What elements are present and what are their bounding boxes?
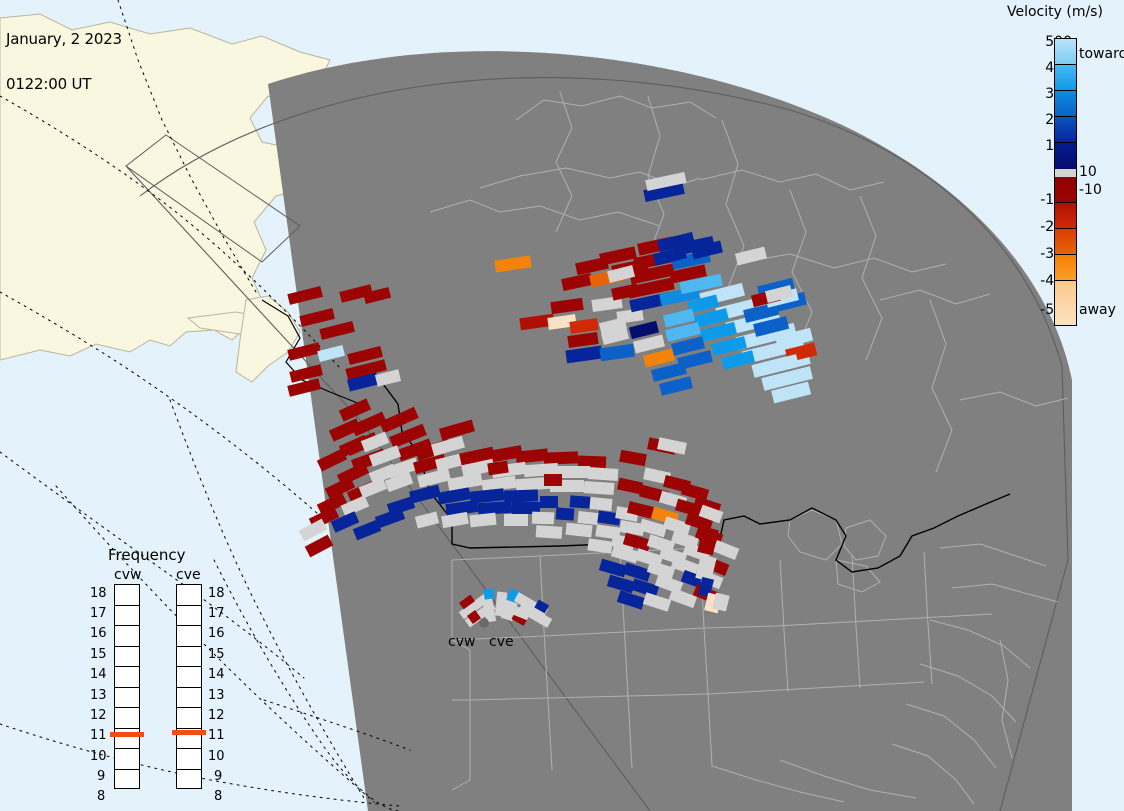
- timestamp-date: January, 2 2023: [6, 32, 122, 47]
- frequency-legend: Frequency cvw 18 17 16 15 14 13 12 11 10…: [92, 546, 242, 791]
- freq-cell: [115, 626, 139, 647]
- freq-cell: [115, 647, 139, 668]
- freq-tick: 18: [208, 586, 225, 601]
- site-label-cvw: cvw: [448, 634, 475, 650]
- freq-cell: [177, 770, 201, 791]
- freq-cell: [115, 667, 139, 688]
- freq-tick: 13: [90, 688, 107, 703]
- freq-cell: [177, 606, 201, 627]
- freq-cell: [115, 585, 139, 606]
- colorbar-segment-n400-n500: [1055, 281, 1076, 325]
- freq-cell: [115, 749, 139, 770]
- freq-cell: [115, 688, 139, 709]
- radar-plot-canvas: cvw cve January, 2 2023 0122:00 UT Veloc…: [0, 0, 1124, 811]
- frequency-marker-cve: [172, 730, 206, 735]
- freq-cell: [177, 585, 201, 606]
- freq-tick: 18: [90, 586, 107, 601]
- freq-tick: 12: [208, 708, 225, 723]
- freq-tick: 8: [97, 789, 105, 804]
- radar-site-marker: [479, 618, 489, 628]
- colorbar-segment-200-100: [1055, 117, 1076, 143]
- timestamp: January, 2 2023 0122:00 UT: [6, 2, 122, 122]
- colorbar-title: Velocity (m/s): [1007, 4, 1103, 20]
- timestamp-time: 0122:00 UT: [6, 77, 122, 92]
- colorbar-segment-100-10: [1055, 143, 1076, 169]
- freq-tick: 8: [214, 789, 222, 804]
- freq-tick: 11: [208, 728, 225, 743]
- freq-tick: 14: [208, 667, 225, 682]
- colorbar-segment-n10-n100: [1055, 177, 1076, 203]
- freq-tick: 10: [208, 749, 225, 764]
- freq-cell: [115, 770, 139, 791]
- freq-cell: [177, 749, 201, 770]
- frequency-marker-cvw: [110, 732, 144, 737]
- freq-cell: [115, 708, 139, 729]
- freq-cell: [115, 606, 139, 627]
- freq-tick: 16: [208, 626, 225, 641]
- velocity-colorbar: Velocity (m/s) 500 400 300 200 100 0 -10…: [1005, 2, 1124, 332]
- colorbar-segment-400-300: [1055, 65, 1076, 91]
- freq-cell: [177, 708, 201, 729]
- freq-tick: 15: [90, 647, 107, 662]
- freq-tick: 17: [90, 606, 107, 621]
- freq-tick: 14: [90, 667, 107, 682]
- freq-cell: [177, 647, 201, 668]
- freq-tick: 11: [90, 728, 107, 743]
- colorbar-null-band: [1055, 169, 1076, 177]
- frequency-title: Frequency: [108, 546, 186, 564]
- colorbar-segment-300-200: [1055, 91, 1076, 117]
- freq-tick: 9: [214, 769, 222, 784]
- freq-cell: [177, 626, 201, 647]
- freq-tick: 10: [90, 749, 107, 764]
- frequency-bar-cvw: [114, 584, 140, 789]
- colorbar-inner-low-label: -10: [1079, 182, 1102, 198]
- freq-tick: 17: [208, 606, 225, 621]
- frequency-header-cvw: cvw: [114, 567, 141, 583]
- freq-tick: 16: [90, 626, 107, 641]
- freq-tick: 15: [208, 647, 225, 662]
- frequency-header-cve: cve: [176, 567, 201, 583]
- colorbar-segment-500-400: [1055, 39, 1076, 65]
- colorbar-toward-label: toward: [1079, 46, 1124, 62]
- freq-tick: 12: [90, 708, 107, 723]
- colorbar-segment-n100-n200: [1055, 203, 1076, 229]
- freq-tick: 9: [97, 769, 105, 784]
- colorbar-segment-n200-n300: [1055, 229, 1076, 255]
- frequency-bar-cve: [176, 584, 202, 789]
- colorbar-segment-n300-n400: [1055, 255, 1076, 281]
- site-label-cve: cve: [489, 634, 514, 650]
- freq-tick: 13: [208, 688, 225, 703]
- freq-cell: [177, 667, 201, 688]
- colorbar-inner-high-label: 10: [1079, 164, 1097, 180]
- colorbar-away-label: away: [1079, 302, 1116, 318]
- colorbar-gradient-strip: [1054, 38, 1077, 326]
- freq-cell: [177, 688, 201, 709]
